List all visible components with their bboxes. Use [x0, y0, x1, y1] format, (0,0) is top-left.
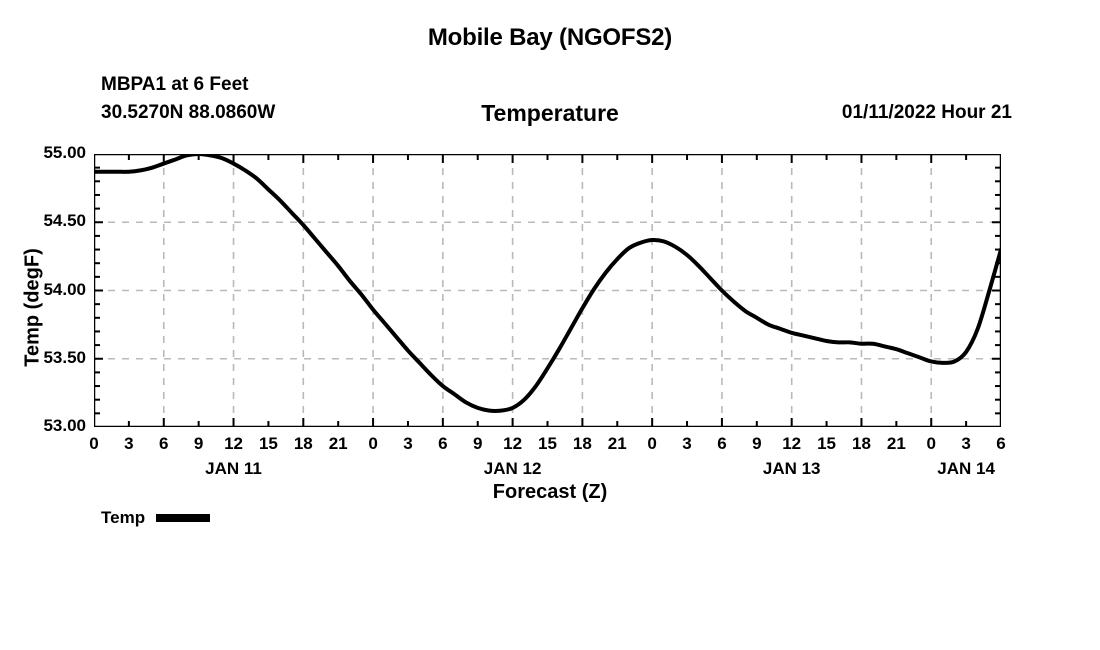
y-axis-title: Temp (degF) — [22, 188, 45, 428]
chart-gridlines — [94, 154, 1001, 427]
y-tick-label: 53.00 — [43, 416, 86, 436]
temperature-line-chart — [94, 154, 1001, 427]
page-title-top: Mobile Bay (NGOFS2) — [0, 24, 1100, 52]
x-day-label: JAN 11 — [184, 459, 284, 479]
station-label: MBPA1 at 6 Feet — [101, 74, 248, 96]
x-day-label: JAN 14 — [916, 459, 1016, 479]
x-tick-label: 6 — [976, 434, 1026, 454]
x-day-label: JAN 12 — [463, 459, 563, 479]
x-day-label: JAN 13 — [742, 459, 842, 479]
temp-series-line — [94, 154, 1001, 411]
y-tick-label: 54.50 — [43, 211, 86, 231]
y-tick-label: 54.00 — [43, 280, 86, 300]
legend-swatch-temp — [156, 514, 210, 522]
x-axis-title: Forecast (Z) — [0, 481, 1100, 504]
chart-legend: Temp — [101, 508, 210, 528]
chart-plot-area — [94, 154, 1001, 427]
legend-label-temp: Temp — [101, 508, 145, 528]
model-run-label: 01/11/2022 Hour 21 — [842, 102, 1012, 124]
y-tick-label: 55.00 — [43, 143, 86, 163]
y-tick-label: 53.50 — [43, 348, 86, 368]
